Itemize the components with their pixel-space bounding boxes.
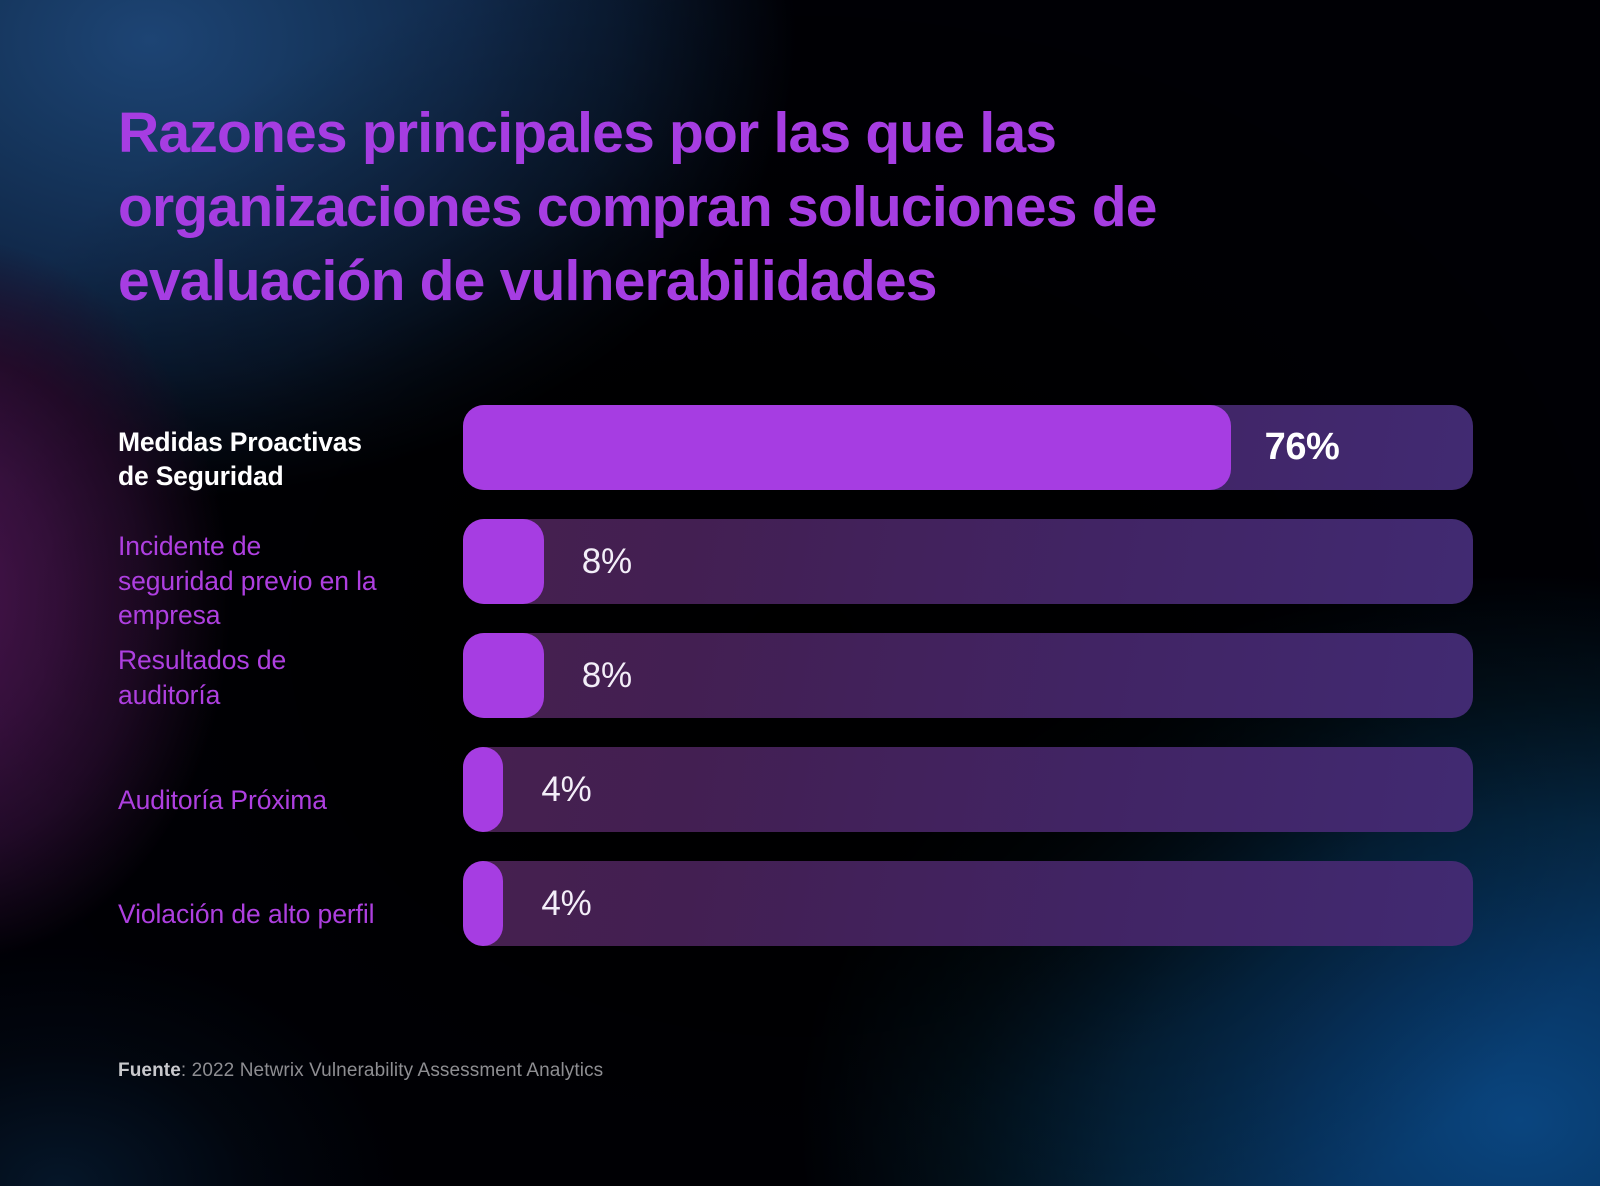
source-separator: : <box>181 1060 192 1081</box>
bar-track: 8% <box>463 519 1473 604</box>
bar-fill <box>463 405 1231 490</box>
bar-value-label: 4% <box>541 861 591 946</box>
content-area: Razones principales por las que las orga… <box>0 0 1600 1186</box>
bar-track: 4% <box>463 861 1473 946</box>
bar-value-label: 4% <box>541 747 591 832</box>
bar-row: Medidas Proactivas de Seguridad76% <box>0 405 1600 490</box>
bar-row-label: Violación de alto perfil <box>118 897 448 932</box>
bar-fill <box>463 519 544 604</box>
bar-row-label: Auditoría Próxima <box>118 783 448 818</box>
bar-row-label: Incidente de seguridad previo en la empr… <box>118 529 448 633</box>
bar-fill <box>463 747 503 832</box>
bar-row: Incidente de seguridad previo en la empr… <box>0 519 1600 604</box>
page-title: Razones principales por las que las orga… <box>118 96 1278 318</box>
bar-track: 8% <box>463 633 1473 718</box>
bar-track: 76% <box>463 405 1473 490</box>
source-label: Fuente <box>118 1060 181 1081</box>
bar-fill <box>463 861 503 946</box>
bar-row: Violación de alto perfil4% <box>0 861 1600 946</box>
bar-fill <box>463 633 544 718</box>
source-note: Fuente: 2022 Netwrix Vulnerability Asses… <box>118 1060 603 1082</box>
bar-row-label: Resultados de auditoría <box>118 643 448 712</box>
bar-value-label: 76% <box>1265 405 1340 490</box>
bar-track: 4% <box>463 747 1473 832</box>
bar-value-label: 8% <box>582 633 632 718</box>
source-text: 2022 Netwrix Vulnerability Assessment An… <box>192 1060 604 1081</box>
bar-row-label: Medidas Proactivas de Seguridad <box>118 425 448 493</box>
bar-value-label: 8% <box>582 519 632 604</box>
bar-row: Auditoría Próxima4% <box>0 747 1600 832</box>
infographic-canvas: Razones principales por las que las orga… <box>0 0 1600 1186</box>
bar-row: Resultados de auditoría8% <box>0 633 1600 718</box>
